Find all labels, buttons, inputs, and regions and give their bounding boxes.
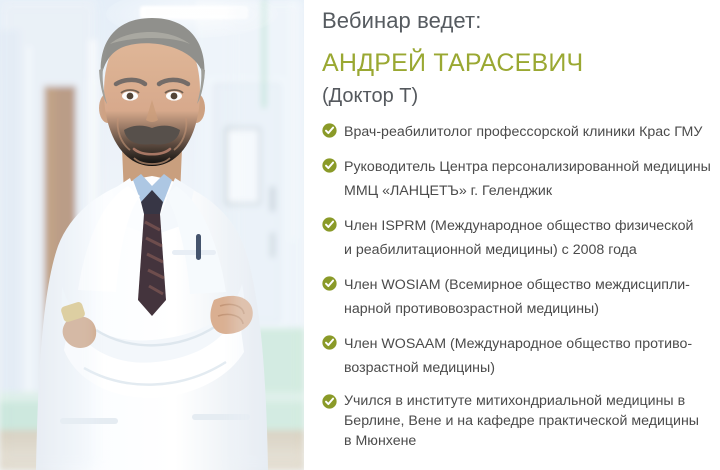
check-circle-icon bbox=[322, 276, 337, 291]
list-item-text: Учился в институте митихондриальной меди… bbox=[344, 391, 720, 451]
check-circle-icon bbox=[322, 335, 337, 350]
webinar-speaker-card: Вебинар ведет: АНДРЕЙ ТАРАСЕВИЧ (Доктор … bbox=[0, 0, 720, 470]
list-item: Врач-реабилитолог профессорской клиники … bbox=[322, 120, 720, 144]
list-item: Член ISPRM (Международное общество физич… bbox=[322, 214, 720, 262]
check-circle-icon bbox=[322, 158, 337, 173]
list-item-text: Член WOSAAM (Международное общество прот… bbox=[344, 332, 720, 380]
list-item-text: Член ISPRM (Международное общество физич… bbox=[344, 214, 720, 262]
check-circle-icon bbox=[322, 123, 337, 138]
list-item-text: Врач-реабилитолог профессорской клиники … bbox=[344, 120, 720, 144]
list-item: Руководитель Центра персонализированной … bbox=[322, 155, 720, 203]
list-item: Учился в институте митихондриальной меди… bbox=[322, 391, 720, 451]
list-item-text: Член WOSIAM (Всемирное общество междисци… bbox=[344, 273, 720, 321]
speaker-info-panel: Вебинар ведет: АНДРЕЙ ТАРАСЕВИЧ (Доктор … bbox=[304, 0, 720, 470]
check-circle-icon bbox=[322, 217, 337, 232]
doctor-photo bbox=[0, 0, 304, 470]
eyebrow-label: Вебинар ведет: bbox=[322, 0, 720, 35]
speaker-nickname: (Доктор Т) bbox=[322, 77, 720, 109]
speaker-name: АНДРЕЙ ТАРАСЕВИЧ bbox=[322, 35, 720, 77]
doctor-portrait-illustration bbox=[0, 0, 304, 470]
list-item-text: Руководитель Центра персонализированной … bbox=[344, 155, 720, 203]
list-item: Член WOSAAM (Международное общество прот… bbox=[322, 332, 720, 380]
credentials-list: Врач-реабилитолог профессорской клиники … bbox=[322, 109, 720, 451]
list-item: Член WOSIAM (Всемирное общество междисци… bbox=[322, 273, 720, 321]
check-circle-icon bbox=[322, 394, 337, 409]
